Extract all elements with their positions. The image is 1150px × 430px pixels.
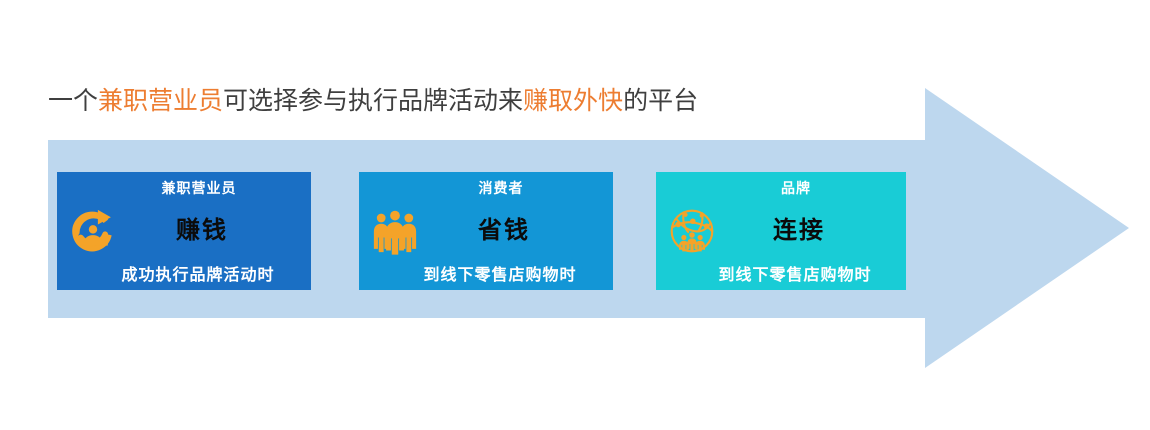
card-consumer[interactable]: 消费者 省钱 到线下零售店购物时 (359, 172, 613, 290)
page-title: 一个兼职营业员可选择参与执行品牌活动来赚取外快的平台 (48, 86, 698, 118)
card-footer-text: 到线下零售店购物时 (359, 261, 613, 285)
card-heading: 消费者 (359, 178, 613, 198)
card-part-time-clerk[interactable]: 兼职营业员 赚钱 成功执行品牌活动时 (57, 172, 311, 290)
headline-segment-2: 可选择参与执行品牌活动来 (223, 88, 523, 115)
headline-segment-4: 的平台 (623, 88, 698, 115)
headline-segment-0: 一个 (48, 88, 98, 115)
card-footer-text: 成功执行品牌活动时 (57, 261, 311, 285)
card-main-text: 连接 (656, 210, 906, 245)
card-heading: 兼职营业员 (57, 178, 311, 198)
card-brand[interactable]: 品牌 连接 到线下零售店购物时 (656, 172, 906, 290)
card-main-text: 赚钱 (57, 210, 311, 245)
card-main-text: 省钱 (359, 210, 613, 245)
headline-segment-3-accent: 赚取外快 (523, 88, 623, 115)
headline-segment-1-accent: 兼职营业员 (98, 88, 223, 115)
card-heading: 品牌 (656, 178, 906, 198)
card-footer-text: 到线下零售店购物时 (656, 261, 906, 285)
